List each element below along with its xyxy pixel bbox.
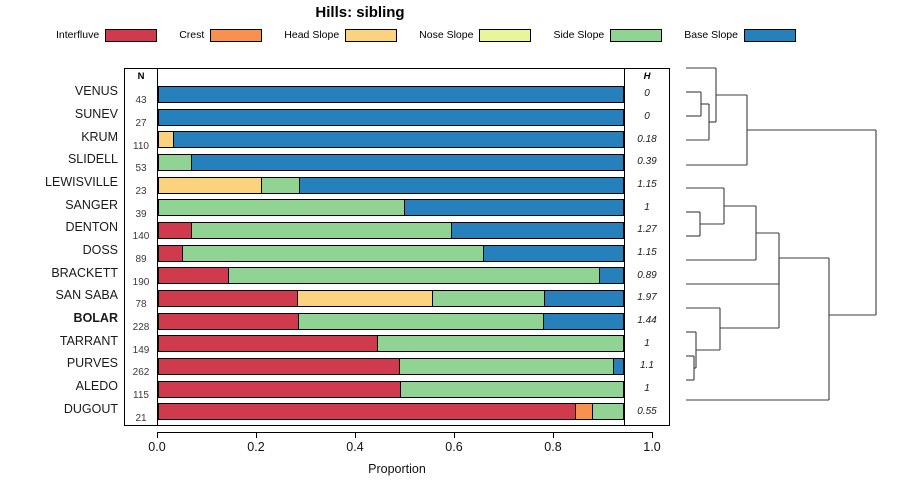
bar-segment[interactable] [575, 404, 592, 419]
n-value: 78 [125, 299, 157, 310]
n-value: 110 [125, 141, 157, 152]
bar-segment[interactable] [191, 223, 451, 238]
row-label: KRUM [81, 130, 118, 144]
h-value: 1.15 [625, 247, 669, 258]
n-column: N 4327110532339140891907822814926211521 [125, 69, 158, 425]
bar-segment[interactable] [159, 336, 377, 351]
legend-item-label: Nose Slope [419, 29, 479, 41]
bar-segment[interactable] [159, 178, 261, 193]
row-label: BOLAR [74, 311, 118, 325]
n-value: 43 [125, 95, 157, 106]
bar-segment[interactable] [228, 268, 599, 283]
bar-segment[interactable] [191, 155, 623, 170]
bar-segment[interactable] [399, 359, 613, 374]
stacked-bar[interactable] [158, 109, 624, 126]
legend: InterfluveCrestHead SlopeNose SlopeSide … [56, 26, 756, 44]
bar-segment[interactable] [173, 132, 623, 147]
legend-item-label: Base Slope [684, 29, 744, 41]
n-column-header: N [125, 71, 157, 82]
bar-segment[interactable] [298, 314, 544, 329]
bar-segment[interactable] [377, 336, 623, 351]
row-label: LEWISVILLE [45, 175, 118, 189]
bar-segment[interactable] [400, 382, 623, 397]
bar-segment[interactable] [159, 382, 400, 397]
bar-segment[interactable] [159, 404, 575, 419]
h-value: 0 [625, 111, 669, 122]
stacked-bar[interactable] [158, 313, 624, 330]
bar-segment[interactable] [297, 291, 432, 306]
h-value: 1 [625, 202, 669, 213]
stacked-bar[interactable] [158, 177, 624, 194]
bar-segment[interactable] [159, 132, 173, 147]
bar-segment[interactable] [159, 291, 297, 306]
stacked-bar[interactable] [158, 131, 624, 148]
row-label: DUGOUT [64, 402, 118, 416]
bar-segment[interactable] [543, 314, 623, 329]
row-label: SANGER [65, 198, 118, 212]
h-value: 1.27 [625, 224, 669, 235]
n-value: 149 [125, 345, 157, 356]
n-value: 228 [125, 322, 157, 333]
stacked-bar[interactable] [158, 403, 624, 420]
bar-segment[interactable] [483, 246, 623, 261]
legend-swatch [744, 29, 796, 42]
legend-item-label: Side Slope [553, 29, 610, 41]
bar-segment[interactable] [159, 200, 404, 215]
bar-segment[interactable] [159, 110, 623, 125]
bar-segment[interactable] [451, 223, 623, 238]
stacked-bar[interactable] [158, 381, 624, 398]
stacked-bar[interactable] [158, 335, 624, 352]
h-value: 1.97 [625, 292, 669, 303]
n-value: 27 [125, 118, 157, 129]
chart-title: Hills: sibling [0, 4, 720, 21]
h-value: 0.39 [625, 156, 669, 167]
h-value: 0 [625, 88, 669, 99]
legend-item[interactable]: Crest [179, 29, 284, 42]
n-value: 140 [125, 231, 157, 242]
x-tick [256, 432, 257, 438]
bar-segment[interactable] [261, 178, 299, 193]
stacked-bar[interactable] [158, 86, 624, 103]
n-value: 23 [125, 186, 157, 197]
row-label: SAN SABA [55, 288, 118, 302]
bar-segment[interactable] [159, 246, 182, 261]
legend-swatch [210, 29, 262, 42]
legend-swatch [610, 29, 662, 42]
row-label-column: VENUSSUNEVKRUMSLIDELLLEWISVILLESANGERDEN… [0, 68, 120, 426]
legend-item-label: Head Slope [284, 29, 345, 41]
bars-area [158, 69, 624, 425]
stacked-bar[interactable] [158, 245, 624, 262]
h-value: 0.55 [625, 406, 669, 417]
h-value: 0.89 [625, 270, 669, 281]
legend-swatch [479, 29, 531, 42]
stacked-bar[interactable] [158, 267, 624, 284]
bar-segment[interactable] [182, 246, 483, 261]
h-value: 1 [625, 383, 669, 394]
legend-item-label: Interfluve [56, 29, 105, 41]
row-label: DENTON [65, 220, 118, 234]
row-label: BRACKETT [51, 266, 118, 280]
h-value: 0.18 [625, 134, 669, 145]
bar-segment[interactable] [159, 314, 298, 329]
n-value: 89 [125, 254, 157, 265]
n-value: 53 [125, 163, 157, 174]
row-label: TARRANT [60, 334, 118, 348]
x-tick [652, 432, 653, 438]
dendrogram [676, 60, 900, 432]
h-column: H 000.180.391.1511.271.150.891.971.4411.… [624, 69, 669, 425]
h-value: 1.15 [625, 179, 669, 190]
row-label: PURVES [67, 356, 118, 370]
x-tick-label: 0.6 [445, 440, 462, 454]
bar-segment[interactable] [159, 155, 191, 170]
bar-segment[interactable] [599, 268, 623, 283]
legend-item[interactable]: Side Slope [553, 29, 684, 42]
bar-segment[interactable] [613, 359, 623, 374]
bar-segment[interactable] [159, 87, 623, 102]
row-label: SUNEV [75, 107, 118, 121]
bar-segment[interactable] [159, 268, 228, 283]
row-label: VENUS [75, 84, 118, 98]
plot-panel: N 4327110532339140891907822814926211521 … [124, 68, 670, 426]
stacked-bar[interactable] [158, 290, 624, 307]
n-value: 115 [125, 390, 157, 401]
x-tick [157, 432, 158, 438]
bar-segment[interactable] [159, 223, 191, 238]
bar-segment[interactable] [432, 291, 544, 306]
legend-item[interactable]: Nose Slope [419, 29, 553, 42]
bar-segment[interactable] [299, 178, 623, 193]
x-tick-label: 0.8 [544, 440, 561, 454]
legend-item[interactable]: Head Slope [284, 29, 419, 42]
x-axis-label: Proportion [124, 462, 670, 476]
n-value: 190 [125, 277, 157, 288]
x-tick-label: 1.0 [643, 440, 660, 454]
n-value: 21 [125, 413, 157, 424]
row-label: DOSS [83, 243, 118, 257]
stacked-bar[interactable] [158, 199, 624, 216]
h-column-header: H [625, 71, 669, 82]
x-tick-label: 0.2 [247, 440, 264, 454]
legend-item[interactable]: Base Slope [684, 29, 796, 42]
dendrogram-svg [676, 60, 900, 432]
chart-root: Hills: sibling InterfluveCrestHead Slope… [0, 0, 900, 500]
x-axis-line [157, 432, 652, 433]
legend-item-label: Crest [179, 29, 210, 41]
h-value: 1 [625, 338, 669, 349]
stacked-bar[interactable] [158, 222, 624, 239]
x-tick-label: 0.4 [346, 440, 363, 454]
n-value: 262 [125, 367, 157, 378]
bar-segment[interactable] [404, 200, 623, 215]
legend-swatch [105, 29, 157, 42]
h-value: 1.44 [625, 315, 669, 326]
x-tick [454, 432, 455, 438]
row-label: SLIDELL [68, 152, 118, 166]
stacked-bar[interactable] [158, 358, 624, 375]
bar-segment[interactable] [159, 359, 399, 374]
stacked-bar[interactable] [158, 154, 624, 171]
row-label: ALEDO [76, 379, 118, 393]
h-value: 1.1 [625, 360, 669, 371]
legend-swatch [345, 29, 397, 42]
legend-item[interactable]: Interfluve [56, 29, 179, 42]
n-value: 39 [125, 209, 157, 220]
bar-segment[interactable] [592, 404, 623, 419]
x-tick [553, 432, 554, 438]
bar-segment[interactable] [544, 291, 623, 306]
x-tick-label: 0.0 [148, 440, 165, 454]
x-tick [355, 432, 356, 438]
